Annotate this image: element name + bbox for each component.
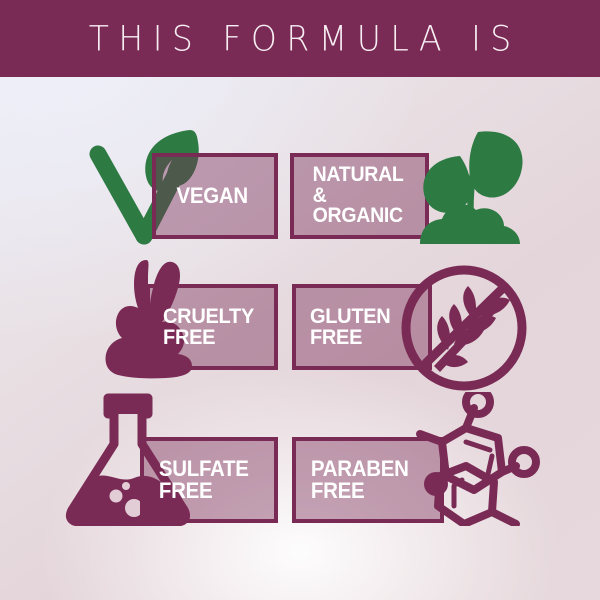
badge-vegan[interactable]: VEGAN xyxy=(152,153,278,239)
badge-cruelty-free-label: CRUELTY FREE xyxy=(150,306,254,349)
badge-paraben-free-label: PARABEN FREE xyxy=(296,458,409,502)
header-band: THIS FORMULA IS xyxy=(0,0,600,77)
badge-paraben-free[interactable]: PARABEN FREE xyxy=(292,437,444,523)
badge-vegan-label: VEGAN xyxy=(156,185,248,207)
badge-natural-organic-label: NATURAL & ORGANIC xyxy=(294,165,416,227)
badge-cruelty-free[interactable]: CRUELTY FREE xyxy=(146,284,278,370)
badge-gluten-free-label: GLUTEN FREE xyxy=(296,306,390,349)
page-title: THIS FORMULA IS xyxy=(79,18,521,59)
formula-claims-poster: THIS FORMULA IS VEGAN NATURAL & ORGANIC xyxy=(0,0,600,600)
badge-gluten-free[interactable]: GLUTEN FREE xyxy=(292,284,432,370)
badge-sulfate-free-label: SULFATE FREE xyxy=(144,458,249,502)
badge-natural-organic[interactable]: NATURAL & ORGANIC xyxy=(290,153,429,239)
badge-sulfate-free[interactable]: SULFATE FREE xyxy=(140,437,278,523)
